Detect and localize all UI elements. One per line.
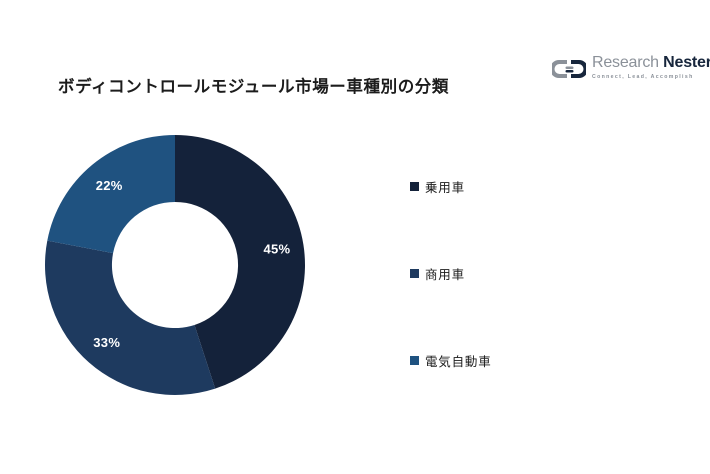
donut-chart-svg: 45%33%22% xyxy=(45,135,305,395)
legend-swatch-icon xyxy=(410,269,419,278)
donut-slice xyxy=(47,135,175,253)
donut-slice-value-label: 22% xyxy=(96,178,123,193)
chart-legend: 乗用車商用車電気自動車 xyxy=(410,178,600,368)
donut-slice-value-label: 33% xyxy=(93,335,120,350)
legend-item-label: 商用車 xyxy=(425,264,465,283)
legend-item-label: 電気自動車 xyxy=(425,351,492,370)
donut-slice-value-label: 45% xyxy=(263,241,290,256)
donut-slice xyxy=(45,241,215,395)
legend-item[interactable]: 商用車 xyxy=(410,265,600,281)
logo-text-block: Research Nester Connect, Lead, Accomplis… xyxy=(592,55,710,80)
donut-chart: 45%33%22% xyxy=(45,135,305,395)
legend-item[interactable]: 電気自動車 xyxy=(410,352,600,368)
logo-word-research: Research xyxy=(592,54,659,71)
legend-item-label: 乗用車 xyxy=(425,177,465,196)
donut-slice-group xyxy=(45,135,305,395)
legend-swatch-icon xyxy=(410,182,419,191)
logo-word-nester: Nester xyxy=(659,54,710,71)
legend-swatch-icon xyxy=(410,356,419,365)
legend-item[interactable]: 乗用車 xyxy=(410,178,600,194)
page-title: ボディコントロールモジュール市場ー車種別の分類 xyxy=(58,73,449,97)
interlocking-links-logo-mark xyxy=(552,57,586,81)
logo-wordmark: Research Nester xyxy=(592,55,710,71)
brand-logo: Research Nester Connect, Lead, Accomplis… xyxy=(552,55,687,91)
logo-tagline: Connect, Lead, Accomplish xyxy=(592,75,710,80)
